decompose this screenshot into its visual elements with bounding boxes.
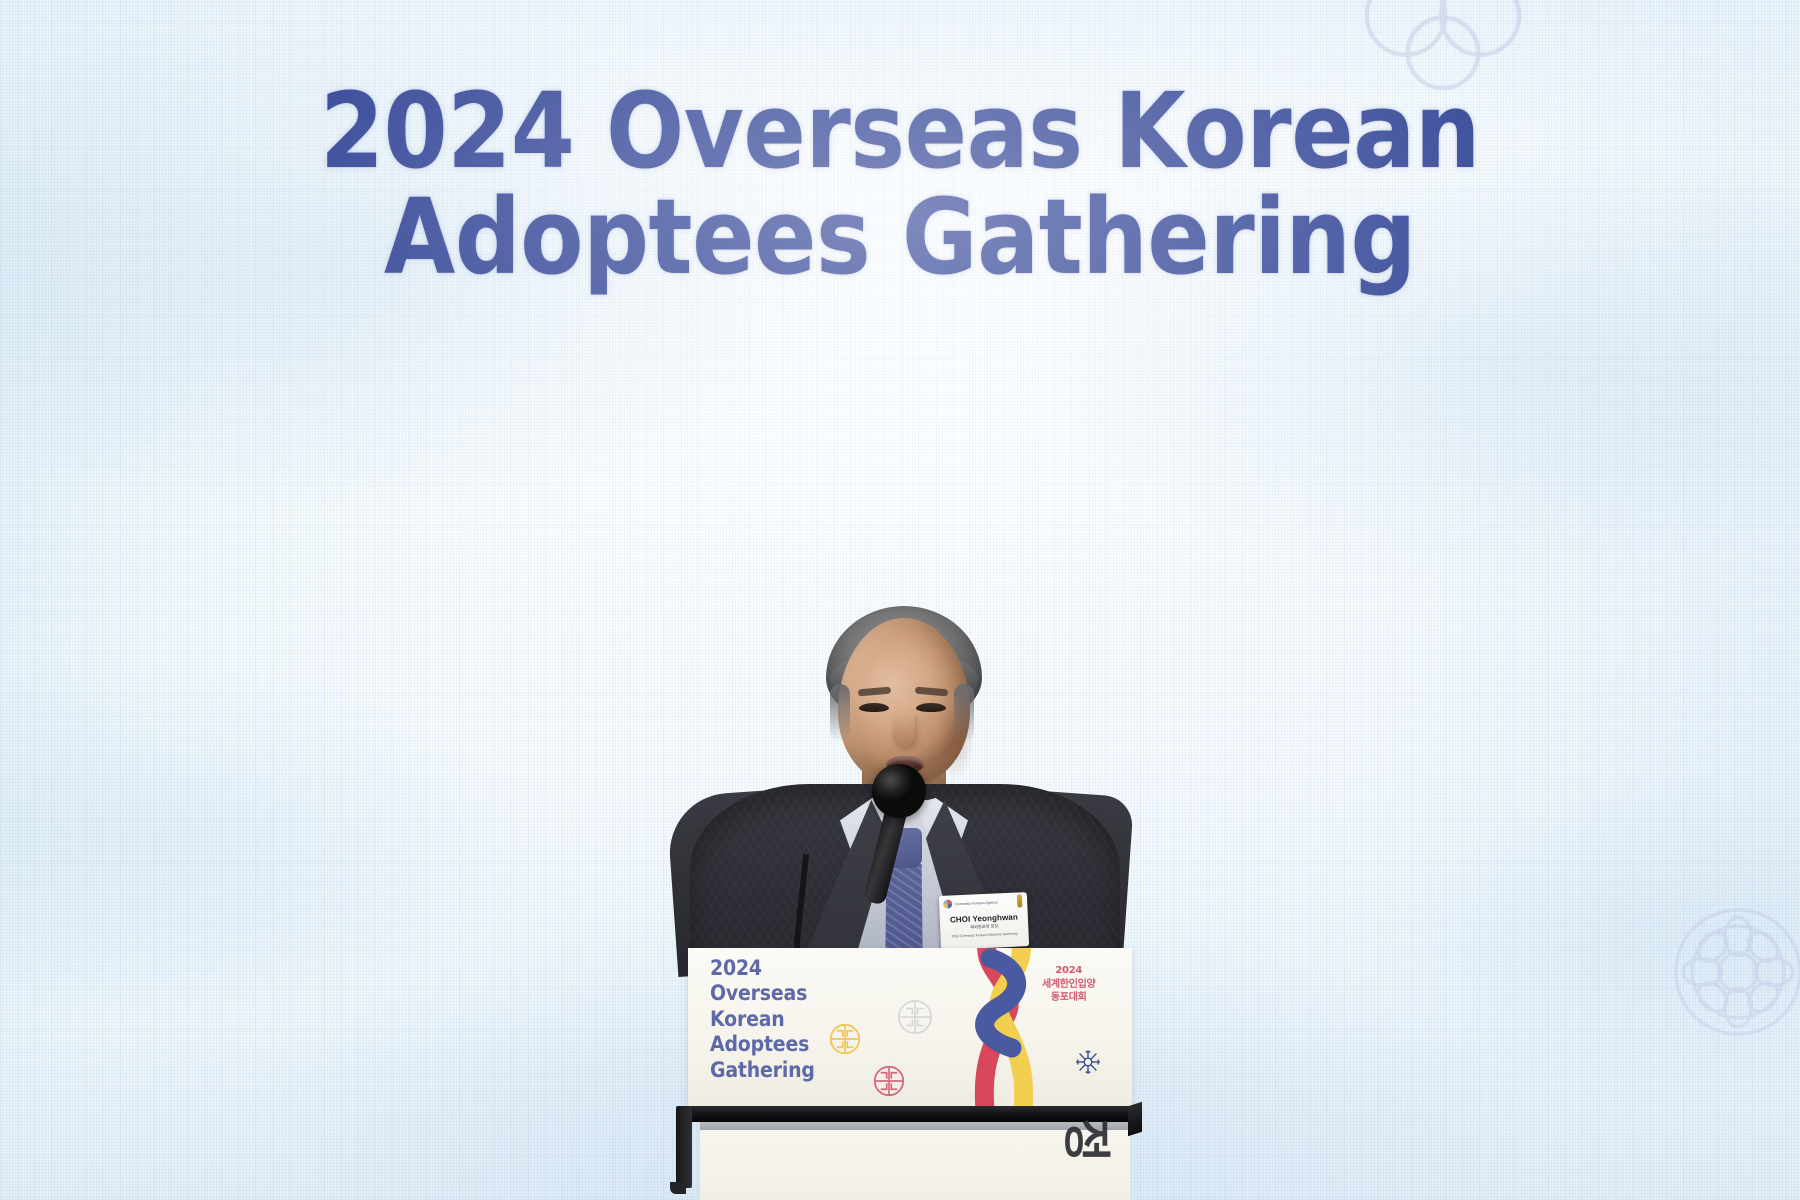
snowflake-medallion-navy-icon: [1074, 1048, 1102, 1076]
cheek-shading: [938, 700, 974, 780]
photograph-stage: 2024 Overseas Korean Adoptees Gathering: [0, 0, 1800, 1200]
eye-right: [916, 703, 946, 712]
podium-title-line-5: Gathering: [710, 1058, 815, 1083]
microphone-icon: [872, 764, 926, 818]
badge-logo-icon: [943, 899, 952, 908]
name-badge: Overseas Koreans Agency CHOI Yeonghwan 재…: [939, 892, 1029, 950]
badge-clip: [1017, 894, 1023, 907]
podium-leg-left: [676, 1106, 692, 1188]
podium-korean-line-2: 세계한인입양: [1042, 978, 1095, 992]
nose: [893, 712, 915, 746]
sideburn-left: [830, 684, 850, 742]
podium-korean-title: 2024 세계한인입양 동포대회: [1042, 964, 1095, 1005]
longevity-medallion-yellow-icon: [830, 1024, 860, 1054]
podium-title: 2024 Overseas Korean Adoptees Gathering: [710, 956, 815, 1083]
eye-left: [859, 703, 889, 712]
longevity-medallion-red-icon: [874, 1066, 904, 1096]
longevity-medallion-gray-icon: [898, 1000, 932, 1034]
podium-korean-line-1: 2024: [1042, 964, 1095, 978]
screen-headline-line-1: 2024 Overseas Korean: [320, 70, 1480, 192]
screen-headline-line-2: Adoptees Gathering: [104, 184, 1697, 290]
podium-side-korean-glyph: 정: [1056, 1118, 1126, 1162]
podium-side-bracket: [1128, 1102, 1142, 1137]
podium-title-line-3: Korean: [710, 1007, 815, 1032]
braided-tricolor-cord-graphic: [956, 948, 1052, 1108]
podium-title-line-1: 2024: [710, 956, 815, 981]
podium-front-panel: 2024 Overseas Korean Adoptees Gathering: [688, 948, 1132, 1108]
screen-headline: 2024 Overseas Korean Adoptees Gathering: [104, 78, 1697, 290]
badge-organization: Overseas Koreans Agency: [955, 900, 998, 906]
podium-korean-line-3: 동포대회: [1042, 991, 1095, 1005]
podium-title-line-2: Overseas: [710, 981, 815, 1006]
badge-event-name: 2024 Overseas Korean Adoptees Gathering: [945, 931, 1025, 938]
podium-title-line-4: Adoptees: [710, 1032, 815, 1057]
